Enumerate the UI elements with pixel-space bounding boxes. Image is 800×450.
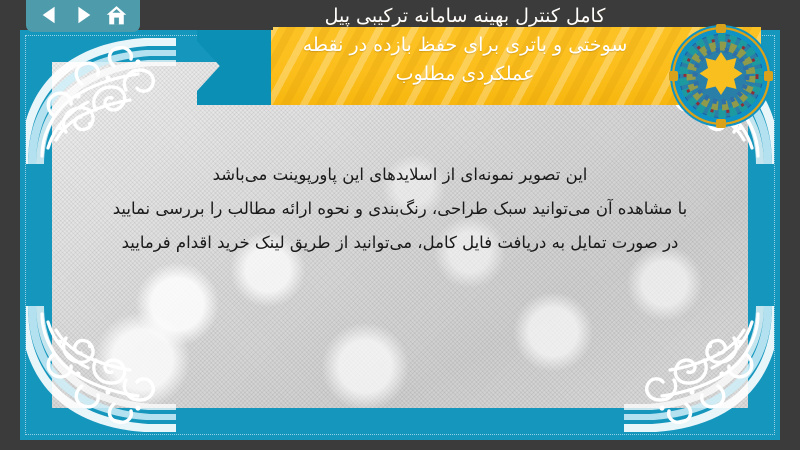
home-button[interactable] — [103, 3, 129, 27]
body-line-2: با مشاهده آن می‌توانید سبک طراحی، رنگ‌بن… — [80, 192, 720, 226]
banner-tab-top-mask — [197, 0, 273, 30]
title-line-3: عملکردی مطلوب — [265, 60, 665, 89]
home-icon — [105, 4, 128, 27]
title-line-2: سوختی و باتری برای حفظ بازده در نقطه — [265, 31, 665, 60]
slide-body-text: این تصویر نمونه‌ای از اسلایدهای این پاور… — [80, 158, 720, 260]
triangle-right-icon — [72, 4, 94, 26]
page-title: کامل کنترل بهینه سامانه ترکیبی پیل سوختی… — [265, 2, 665, 89]
ornament-medallion-icon — [668, 23, 774, 129]
previous-slide-button[interactable] — [37, 3, 63, 27]
slide-navigation-bar — [26, 0, 140, 32]
body-line-1: این تصویر نمونه‌ای از اسلایدهای این پاور… — [80, 158, 720, 192]
next-slide-button[interactable] — [70, 3, 96, 27]
slide-viewer: این تصویر نمونه‌ای از اسلایدهای این پاور… — [0, 0, 800, 450]
title-line-1: کامل کنترل بهینه سامانه ترکیبی پیل — [265, 2, 665, 31]
triangle-left-icon — [39, 4, 61, 26]
body-line-3: در صورت تمایل به دریافت فایل کامل، می‌تو… — [80, 226, 720, 260]
